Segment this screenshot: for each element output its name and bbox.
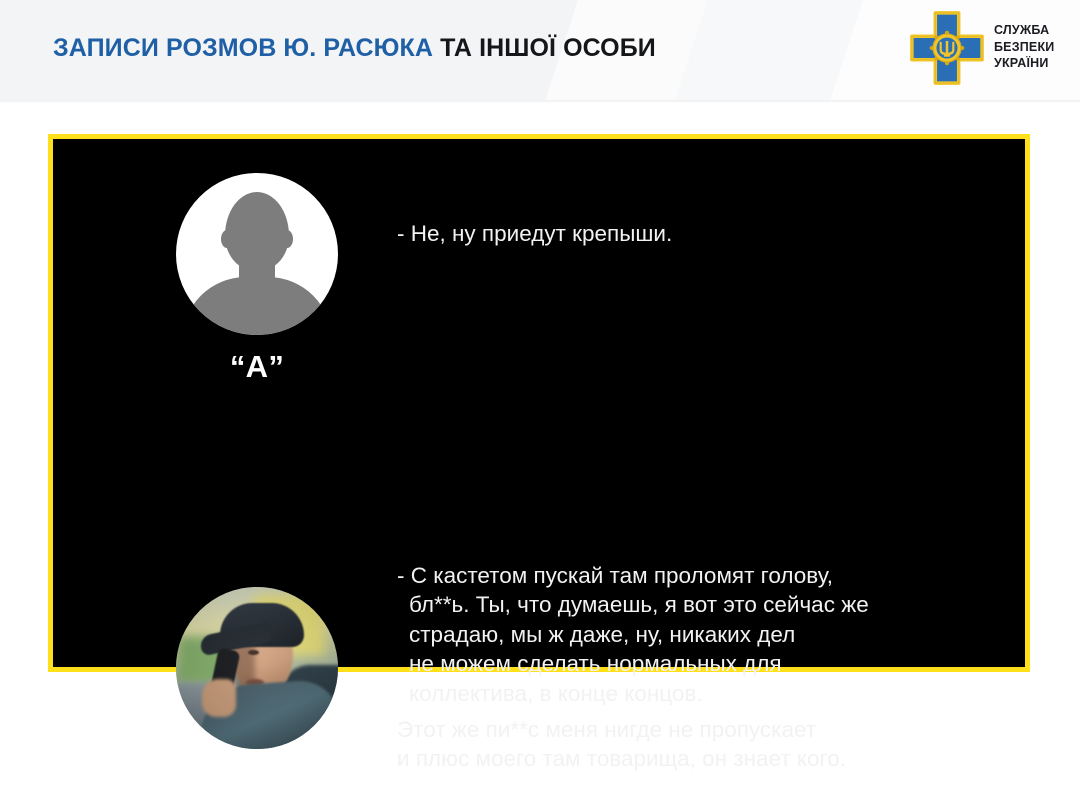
photo-vignette <box>176 587 338 749</box>
sbu-cross-icon <box>908 9 986 87</box>
conversation-entry-b: Расюк Ю.І. - С кастетом пускай там проло… <box>53 397 1035 672</box>
sbu-logo-line-1: СЛУЖБА <box>994 22 1055 39</box>
avatar-photo-rasyuk <box>176 587 338 749</box>
page-header: ЗАПИСИ РОЗМОВ Ю. РАСЮКА ТА ІНШОЇ ОСОБИ <box>0 0 1080 100</box>
transcript-card: “А” - Не, ну приедут крепыши. <box>48 134 1030 672</box>
sbu-logo-text: СЛУЖБА БЕЗПЕКИ УКРАЇНИ <box>994 22 1055 72</box>
speaker-b-label: Расюк Ю.І. <box>167 763 347 801</box>
speaker-b-dialog-line-2: Этот же пи**с меня нигде не пропускает и… <box>397 715 1017 774</box>
speaker-a-identity: “А” <box>167 173 347 385</box>
silhouette-ear-left-icon <box>221 230 233 248</box>
sbu-logo-line-3: УКРАЇНИ <box>994 55 1055 72</box>
page-title: ЗАПИСИ РОЗМОВ Ю. РАСЮКА ТА ІНШОЇ ОСОБИ <box>53 36 656 61</box>
sbu-logo-line-2: БЕЗПЕКИ <box>994 39 1055 56</box>
speaker-a-label: “А” <box>167 349 347 385</box>
page-title-plain: ТА ІНШОЇ ОСОБИ <box>433 34 656 62</box>
speaker-a-dialog-line-1: - Не, ну приедут крепыши. <box>397 219 1009 248</box>
header-divider <box>0 100 1080 103</box>
page-title-accent: ЗАПИСИ РОЗМОВ Ю. РАСЮКА <box>53 34 433 62</box>
speaker-b-dialog-line-1: - С кастетом пускай там проломят голову,… <box>397 561 1029 708</box>
silhouette-body-icon <box>182 277 332 335</box>
speaker-b-identity: Расюк Ю.І. <box>167 587 347 801</box>
conversation-entry-a: “А” - Не, ну приедут крепыши. <box>53 139 1035 397</box>
sbu-logo: СЛУЖБА БЕЗПЕКИ УКРАЇНИ <box>908 9 1068 89</box>
silhouette-ear-right-icon <box>281 230 293 248</box>
avatar-anonymous <box>176 173 338 335</box>
